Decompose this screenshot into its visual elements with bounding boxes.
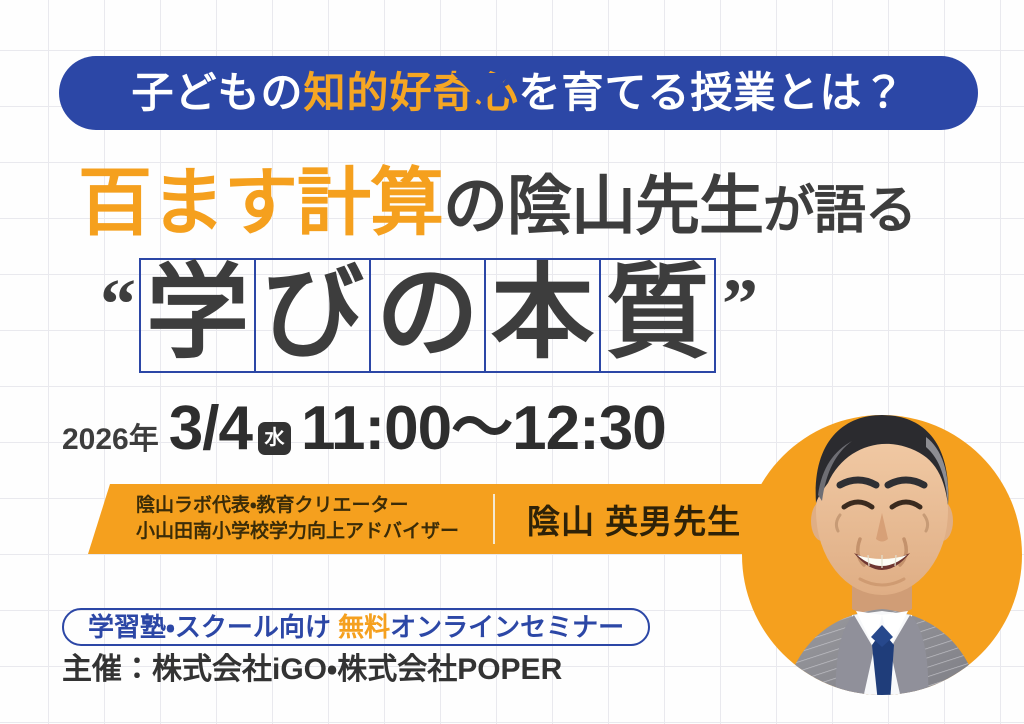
audience-pill: 学習塾・スクール向け 無料オンラインセミナー — [62, 608, 650, 646]
title-character-cells: 学 び の 本 質 — [139, 258, 716, 373]
open-quote-mark: “ — [100, 268, 136, 340]
date-day: 3/4 — [169, 398, 252, 460]
speaker-roles: 陰山ラボ代表・教育クリエーター 小山田南小学校学力向上アドバイザー — [136, 493, 459, 544]
speaker-name: 陰山 英男先生 — [527, 495, 741, 543]
speaker-role-line-1: 陰山ラボ代表・教育クリエーター — [136, 493, 459, 519]
bubble-text: 子どもの知的好奇心を育てる授業とは？ — [131, 72, 905, 114]
bubble-text-after: を育てる授業とは？ — [519, 69, 906, 116]
bubble-tail-icon — [452, 73, 512, 103]
title-cell: 質 — [599, 258, 716, 373]
title-character: の — [376, 261, 479, 364]
speaker-role-line-2: 小山田南小学校学力向上アドバイザー — [136, 519, 459, 545]
title-character: び — [261, 261, 364, 364]
headline-dark-part: の陰山先生 — [443, 173, 763, 238]
title-cell: 本 — [484, 258, 601, 373]
bubble-text-before: 子どもの — [131, 69, 303, 116]
title-cell: 学 — [139, 258, 256, 373]
title-character: 学 — [146, 261, 249, 364]
portrait-illustration — [756, 363, 1008, 703]
speaker-banner-divider — [493, 494, 495, 544]
bubble-body: 子どもの知的好奇心を育てる授業とは？ — [59, 56, 978, 130]
host-line: 主催：株式会社iGO・株式会社POPER — [62, 655, 562, 685]
title-cell: の — [369, 258, 486, 373]
quoted-title: “ 学 び の 本 質 ” — [100, 258, 758, 373]
speaker-banner-content: 陰山ラボ代表・教育クリエーター 小山田南小学校学力向上アドバイザー 陰山 英男先… — [88, 484, 768, 554]
day-of-week-badge: 水 — [258, 422, 291, 455]
speaker-portrait — [756, 363, 1008, 703]
title-cell: び — [254, 258, 371, 373]
headline-orange-part: 百ます計算 — [78, 166, 443, 240]
audience-text-free: 無料 — [338, 612, 390, 642]
audience-text-before: 学習塾・スクール向け — [88, 612, 331, 642]
speaker-banner: 陰山ラボ代表・教育クリエーター 小山田南小学校学力向上アドバイザー 陰山 英男先… — [88, 484, 768, 554]
headline-dark-small-part: が語る — [763, 185, 916, 237]
date-time-range: 11:00〜12:30 — [301, 398, 666, 460]
title-character: 質 — [606, 261, 709, 364]
audience-text-after: オンラインセミナー — [390, 612, 624, 642]
top-question-bubble: 子どもの知的好奇心を育てる授業とは？ — [59, 56, 978, 130]
date-time-line: 2026年 3/4 水 11:00〜12:30 — [62, 398, 666, 460]
date-year: 2026年 — [62, 425, 159, 455]
seminar-poster: 子どもの知的好奇心を育てる授業とは？ 百ます計算 の陰山先生 が語る “ 学 び… — [0, 0, 1024, 724]
audience-pill-text: 学習塾・スクール向け 無料オンラインセミナー — [88, 614, 624, 640]
title-character: 本 — [491, 261, 594, 364]
close-quote-mark: ” — [722, 268, 758, 340]
main-headline: 百ます計算 の陰山先生 が語る — [78, 166, 916, 248]
